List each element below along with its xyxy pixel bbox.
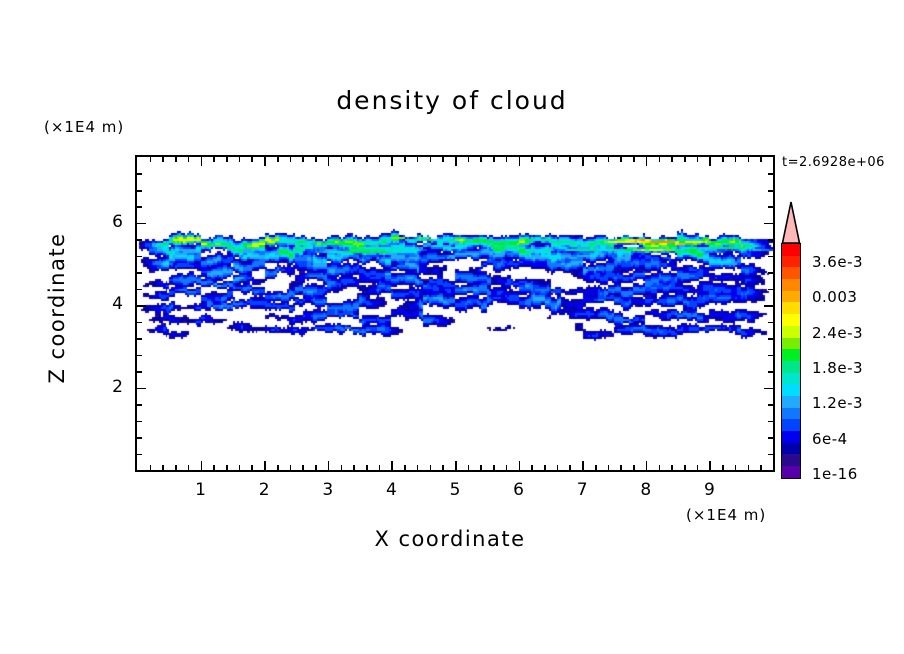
- x-minor-tick-top: [671, 157, 673, 162]
- x-tick-label: 5: [435, 480, 475, 500]
- y-minor-tick-right: [768, 256, 773, 258]
- y-major-tick: [137, 305, 146, 307]
- x-major-tick: [646, 461, 648, 470]
- x-minor-tick: [659, 465, 661, 470]
- x-tick-label: 9: [689, 480, 729, 500]
- y-major-tick-right: [764, 388, 773, 390]
- y-minor-tick: [137, 256, 142, 258]
- colorbar-band: [782, 279, 800, 291]
- x-minor-tick-top: [569, 157, 571, 162]
- plot-area: [135, 155, 775, 472]
- x-minor-tick-top: [353, 157, 355, 162]
- x-minor-tick: [544, 465, 546, 470]
- x-minor-tick: [748, 465, 750, 470]
- x-minor-tick-top: [531, 157, 533, 162]
- x-minor-tick-top: [251, 157, 253, 162]
- x-minor-tick: [671, 465, 673, 470]
- x-major-tick: [709, 461, 711, 470]
- x-minor-tick-top: [544, 157, 546, 162]
- x-major-tick-top: [391, 157, 393, 166]
- x-minor-tick: [506, 465, 508, 470]
- x-minor-tick: [722, 465, 724, 470]
- x-tick-label: 2: [244, 480, 284, 500]
- colorbar-band: [782, 373, 800, 385]
- colorbar-band: [782, 431, 800, 443]
- contour-field: [137, 157, 773, 470]
- x-minor-tick-top: [239, 157, 241, 162]
- x-minor-tick: [277, 465, 279, 470]
- x-minor-tick: [251, 465, 253, 470]
- x-minor-tick: [366, 465, 368, 470]
- y-minor-tick-right: [768, 437, 773, 439]
- y-minor-tick: [137, 190, 142, 192]
- x-minor-tick: [633, 465, 635, 470]
- colorbar-tick-label: 1.8e-3: [812, 359, 863, 377]
- x-minor-tick-top: [213, 157, 215, 162]
- x-minor-tick-top: [175, 157, 177, 162]
- y-minor-tick-right: [768, 239, 773, 241]
- x-minor-tick: [608, 465, 610, 470]
- y-axis-units-label: (×1E4 m): [44, 118, 124, 136]
- x-minor-tick: [341, 465, 343, 470]
- y-minor-tick: [137, 322, 142, 324]
- x-minor-tick: [353, 465, 355, 470]
- colorbar-band: [782, 338, 800, 350]
- y-minor-tick-right: [768, 421, 773, 423]
- colorbar-band: [782, 419, 800, 431]
- x-minor-tick: [175, 465, 177, 470]
- x-minor-tick-top: [684, 157, 686, 162]
- y-minor-tick-right: [768, 454, 773, 456]
- x-minor-tick-top: [226, 157, 228, 162]
- y-axis-title: Z coordinate: [45, 208, 69, 408]
- colorbar-band: [782, 291, 800, 303]
- x-minor-tick-top: [735, 157, 737, 162]
- x-minor-tick-top: [442, 157, 444, 162]
- x-minor-tick: [442, 465, 444, 470]
- y-minor-tick: [137, 454, 142, 456]
- colorbar-band: [782, 326, 800, 338]
- y-minor-tick: [137, 404, 142, 406]
- x-major-tick: [391, 461, 393, 470]
- x-minor-tick: [162, 465, 164, 470]
- y-major-tick: [137, 388, 146, 390]
- x-minor-tick: [569, 465, 571, 470]
- colorbar-band: [782, 244, 800, 256]
- x-minor-tick-top: [506, 157, 508, 162]
- x-minor-tick-top: [366, 157, 368, 162]
- x-minor-tick: [239, 465, 241, 470]
- colorbar-band: [782, 396, 800, 408]
- colorbar-band: [782, 466, 800, 478]
- colorbar-band: [782, 408, 800, 420]
- x-minor-tick: [684, 465, 686, 470]
- x-minor-tick-top: [493, 157, 495, 162]
- colorbar-band: [782, 361, 800, 373]
- x-minor-tick: [290, 465, 292, 470]
- x-tick-label: 4: [371, 480, 411, 500]
- y-minor-tick: [137, 421, 142, 423]
- colorbar-band: [782, 302, 800, 314]
- x-minor-tick-top: [557, 157, 559, 162]
- colorbar-band: [782, 454, 800, 466]
- x-tick-label: 8: [626, 480, 666, 500]
- x-major-tick-top: [582, 157, 584, 166]
- colorbar-tick-label: 2.4e-3: [812, 324, 863, 342]
- x-tick-label: 1: [181, 480, 221, 500]
- colorbar: [781, 243, 801, 479]
- x-tick-label: 6: [499, 480, 539, 500]
- x-minor-tick: [468, 465, 470, 470]
- y-minor-tick-right: [768, 289, 773, 291]
- x-major-tick-top: [519, 157, 521, 166]
- x-minor-tick-top: [468, 157, 470, 162]
- y-minor-tick-right: [768, 322, 773, 324]
- x-minor-tick: [404, 465, 406, 470]
- timestamp-annotation: t=2.6928e+06: [782, 155, 885, 170]
- figure-canvas: density of cloud (×1E4 m) t=2.6928e+06 1…: [0, 0, 904, 654]
- x-minor-tick: [226, 465, 228, 470]
- x-minor-tick: [302, 465, 304, 470]
- x-minor-tick-top: [480, 157, 482, 162]
- chart-title: density of cloud: [0, 86, 904, 115]
- x-tick-label: 7: [562, 480, 602, 500]
- x-minor-tick: [595, 465, 597, 470]
- colorbar-arrow-cap: [781, 200, 801, 244]
- x-minor-tick-top: [608, 157, 610, 162]
- x-minor-tick-top: [302, 157, 304, 162]
- colorbar-band: [782, 384, 800, 396]
- colorbar-band: [782, 256, 800, 268]
- y-minor-tick: [137, 355, 142, 357]
- y-minor-tick: [137, 272, 142, 274]
- y-minor-tick-right: [768, 206, 773, 208]
- x-minor-tick-top: [188, 157, 190, 162]
- y-minor-tick-right: [768, 371, 773, 373]
- x-minor-tick-top: [659, 157, 661, 162]
- y-major-tick: [137, 223, 146, 225]
- y-tick-label: 2: [83, 377, 123, 397]
- x-major-tick: [328, 461, 330, 470]
- x-major-tick: [201, 461, 203, 470]
- y-tick-label: 4: [83, 294, 123, 314]
- x-major-tick: [519, 461, 521, 470]
- colorbar-tick-label: 1e-16: [812, 465, 858, 483]
- x-minor-tick-top: [417, 157, 419, 162]
- y-minor-tick-right: [768, 190, 773, 192]
- colorbar-tick-label: 6e-4: [812, 430, 848, 448]
- x-minor-tick-top: [290, 157, 292, 162]
- x-minor-tick-top: [722, 157, 724, 162]
- y-major-tick-right: [764, 223, 773, 225]
- x-minor-tick-top: [162, 157, 164, 162]
- x-major-tick-top: [709, 157, 711, 166]
- x-minor-tick: [493, 465, 495, 470]
- x-minor-tick-top: [633, 157, 635, 162]
- y-minor-tick: [137, 338, 142, 340]
- x-minor-tick: [531, 465, 533, 470]
- y-minor-tick: [137, 173, 142, 175]
- x-tick-label: 3: [308, 480, 348, 500]
- x-major-tick: [582, 461, 584, 470]
- x-minor-tick: [760, 465, 762, 470]
- colorbar-band: [782, 443, 800, 455]
- colorbar-tick-label: 3.6e-3: [812, 253, 863, 271]
- x-minor-tick-top: [620, 157, 622, 162]
- x-major-tick-top: [201, 157, 203, 166]
- x-minor-tick: [417, 465, 419, 470]
- x-minor-tick: [213, 465, 215, 470]
- x-minor-tick: [620, 465, 622, 470]
- x-minor-tick-top: [430, 157, 432, 162]
- x-major-tick-top: [328, 157, 330, 166]
- x-minor-tick-top: [404, 157, 406, 162]
- colorbar-band: [782, 349, 800, 361]
- x-minor-tick-top: [315, 157, 317, 162]
- x-minor-tick: [735, 465, 737, 470]
- y-minor-tick-right: [768, 173, 773, 175]
- x-minor-tick-top: [697, 157, 699, 162]
- x-major-tick-top: [455, 157, 457, 166]
- y-minor-tick-right: [768, 404, 773, 406]
- y-minor-tick: [137, 239, 142, 241]
- x-minor-tick-top: [595, 157, 597, 162]
- y-minor-tick: [137, 371, 142, 373]
- x-major-tick: [264, 461, 266, 470]
- x-minor-tick: [150, 465, 152, 470]
- x-minor-tick-top: [760, 157, 762, 162]
- colorbar-band: [782, 267, 800, 279]
- x-major-tick-top: [773, 157, 775, 166]
- colorbar-tick-label: 0.003: [812, 288, 857, 306]
- x-minor-tick: [480, 465, 482, 470]
- x-minor-tick: [430, 465, 432, 470]
- x-minor-tick-top: [150, 157, 152, 162]
- y-tick-label: 6: [83, 212, 123, 232]
- colorbar-tick-label: 1.2e-3: [812, 394, 863, 412]
- x-minor-tick-top: [379, 157, 381, 162]
- y-major-tick-right: [764, 305, 773, 307]
- y-minor-tick-right: [768, 338, 773, 340]
- colorbar-band: [782, 314, 800, 326]
- y-minor-tick-right: [768, 355, 773, 357]
- x-minor-tick: [188, 465, 190, 470]
- x-major-tick: [773, 461, 775, 470]
- x-minor-tick: [379, 465, 381, 470]
- x-minor-tick-top: [341, 157, 343, 162]
- x-axis-title: X coordinate: [250, 527, 650, 551]
- y-minor-tick: [137, 289, 142, 291]
- x-minor-tick-top: [277, 157, 279, 162]
- y-minor-tick-right: [768, 272, 773, 274]
- x-major-tick-top: [646, 157, 648, 166]
- x-axis-units-label: (×1E4 m): [686, 506, 766, 524]
- x-minor-tick: [557, 465, 559, 470]
- x-minor-tick: [315, 465, 317, 470]
- x-minor-tick-top: [748, 157, 750, 162]
- x-major-tick-top: [264, 157, 266, 166]
- y-minor-tick: [137, 206, 142, 208]
- y-minor-tick: [137, 437, 142, 439]
- x-minor-tick: [697, 465, 699, 470]
- x-major-tick: [455, 461, 457, 470]
